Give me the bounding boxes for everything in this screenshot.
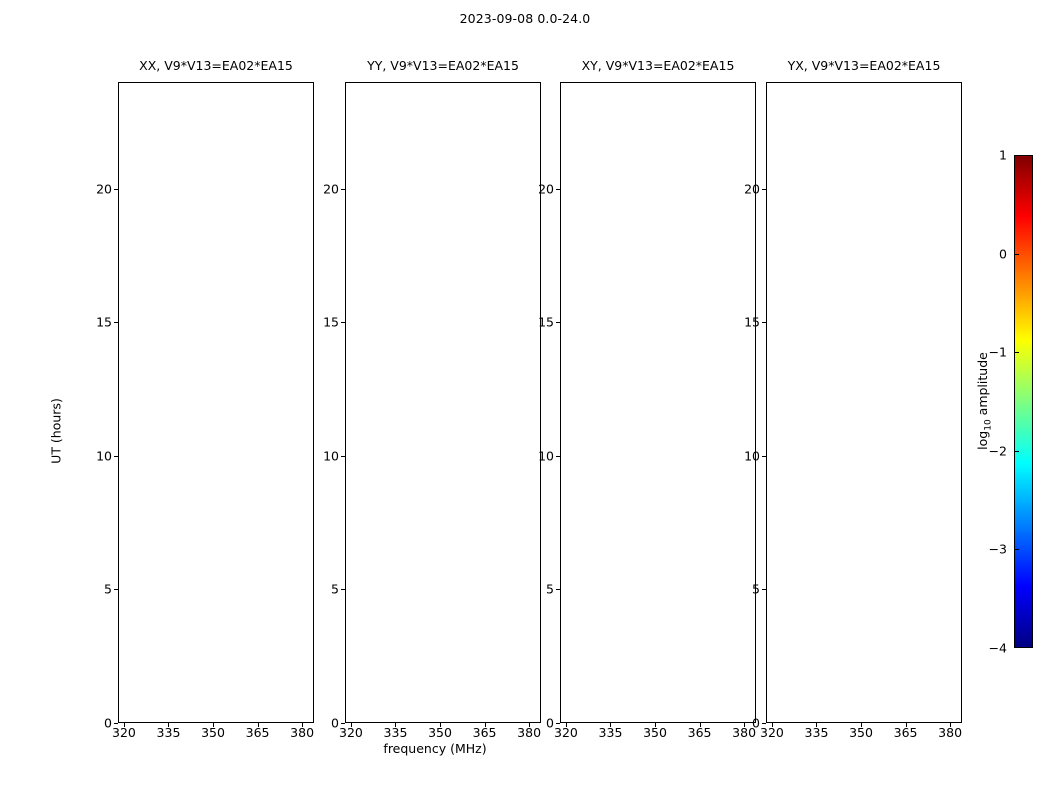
colorbar: −4−3−2−101 <box>1014 155 1033 648</box>
colorbar-label-subscript: 10 <box>983 419 993 430</box>
axes-frame <box>345 82 541 723</box>
x-tick-label: 350 <box>849 725 873 740</box>
colorbar-label: log10 amplitude <box>975 352 994 450</box>
y-tick-mark <box>556 589 560 590</box>
x-tick-label: 335 <box>384 725 408 740</box>
x-tick-mark <box>950 723 951 727</box>
x-tick-mark <box>395 723 396 727</box>
x-tick-mark <box>351 723 352 727</box>
colorbar-tick-mark <box>1014 254 1019 255</box>
y-tick-mark <box>114 456 118 457</box>
y-axis-label: UT (hours) <box>49 398 64 464</box>
x-tick-label: 380 <box>938 725 962 740</box>
y-tick-mark <box>762 723 766 724</box>
y-tick-mark <box>556 723 560 724</box>
colorbar-tick-label: 1 <box>999 148 1007 163</box>
x-tick-mark <box>700 723 701 727</box>
y-tick-mark <box>762 322 766 323</box>
x-tick-mark <box>861 723 862 727</box>
x-tick-mark <box>816 723 817 727</box>
x-tick-mark <box>906 723 907 727</box>
x-tick-mark <box>302 723 303 727</box>
x-tick-mark <box>213 723 214 727</box>
x-tick-mark <box>566 723 567 727</box>
x-tick-mark <box>744 723 745 727</box>
x-tick-label: 365 <box>246 725 270 740</box>
colorbar-label-rest: amplitude <box>975 352 990 419</box>
y-tick-mark <box>762 456 766 457</box>
x-tick-mark <box>772 723 773 727</box>
y-tick-mark <box>762 189 766 190</box>
colorbar-tick-mark <box>1014 451 1019 452</box>
colorbar-tick-label: 0 <box>999 246 1007 261</box>
x-tick-label: 350 <box>428 725 452 740</box>
x-tick-mark <box>529 723 530 727</box>
y-tick-mark <box>556 456 560 457</box>
y-tick-mark <box>341 589 345 590</box>
x-tick-label: 335 <box>805 725 829 740</box>
x-tick-label: 380 <box>290 725 314 740</box>
panel-title-xy: XY, V9*V13=EA02*EA15 <box>582 58 735 73</box>
colorbar-tick-label: −4 <box>989 641 1007 656</box>
x-axis-label: frequency (MHz) <box>383 741 486 756</box>
x-tick-mark <box>258 723 259 727</box>
y-tick-mark <box>341 723 345 724</box>
panel-title-yy: YY, V9*V13=EA02*EA15 <box>367 58 519 73</box>
panel-title-xx: XX, V9*V13=EA02*EA15 <box>139 58 293 73</box>
panel-title-yx: YX, V9*V13=EA02*EA15 <box>788 58 941 73</box>
y-tick-mark <box>114 723 118 724</box>
x-tick-mark <box>168 723 169 727</box>
x-tick-label: 335 <box>599 725 623 740</box>
x-tick-label: 350 <box>643 725 667 740</box>
x-tick-mark <box>485 723 486 727</box>
x-tick-label: 350 <box>201 725 225 740</box>
y-tick-mark <box>114 189 118 190</box>
spectrum-panel-yy: YY, V9*V13=EA02*EA1532033535036538005101… <box>345 82 541 723</box>
x-tick-label: 365 <box>688 725 712 740</box>
colorbar-tick-label: −3 <box>989 542 1007 557</box>
spectrum-panel-xy: XY, V9*V13=EA02*EA1532033535036538005101… <box>560 82 756 723</box>
x-tick-label: 365 <box>894 725 918 740</box>
y-tick-mark <box>556 322 560 323</box>
spectrum-panel-yx: YX, V9*V13=EA02*EA1532033535036538005101… <box>766 82 962 723</box>
y-tick-mark <box>341 322 345 323</box>
figure-canvas: 2023-09-08 0.0-24.0 UT (hours) frequency… <box>0 0 1050 800</box>
y-tick-mark <box>341 456 345 457</box>
figure-suptitle: 2023-09-08 0.0-24.0 <box>0 11 1050 26</box>
colorbar-tick-mark <box>1014 352 1019 353</box>
axes-frame <box>560 82 756 723</box>
y-tick-mark <box>114 589 118 590</box>
colorbar-tick-mark <box>1014 549 1019 550</box>
axes-frame <box>766 82 962 723</box>
spectrum-panel-xx: XX, V9*V13=EA02*EA1532033535036538005101… <box>118 82 314 723</box>
x-tick-mark <box>124 723 125 727</box>
y-tick-mark <box>762 589 766 590</box>
x-tick-mark <box>610 723 611 727</box>
axes-frame <box>118 82 314 723</box>
x-tick-label: 365 <box>473 725 497 740</box>
x-tick-mark <box>655 723 656 727</box>
y-tick-mark <box>341 189 345 190</box>
x-tick-label: 380 <box>517 725 541 740</box>
x-tick-label: 335 <box>157 725 181 740</box>
x-tick-mark <box>440 723 441 727</box>
colorbar-label-base: log <box>975 431 990 450</box>
y-tick-mark <box>114 322 118 323</box>
y-tick-mark <box>556 189 560 190</box>
colorbar-border <box>1014 155 1033 648</box>
